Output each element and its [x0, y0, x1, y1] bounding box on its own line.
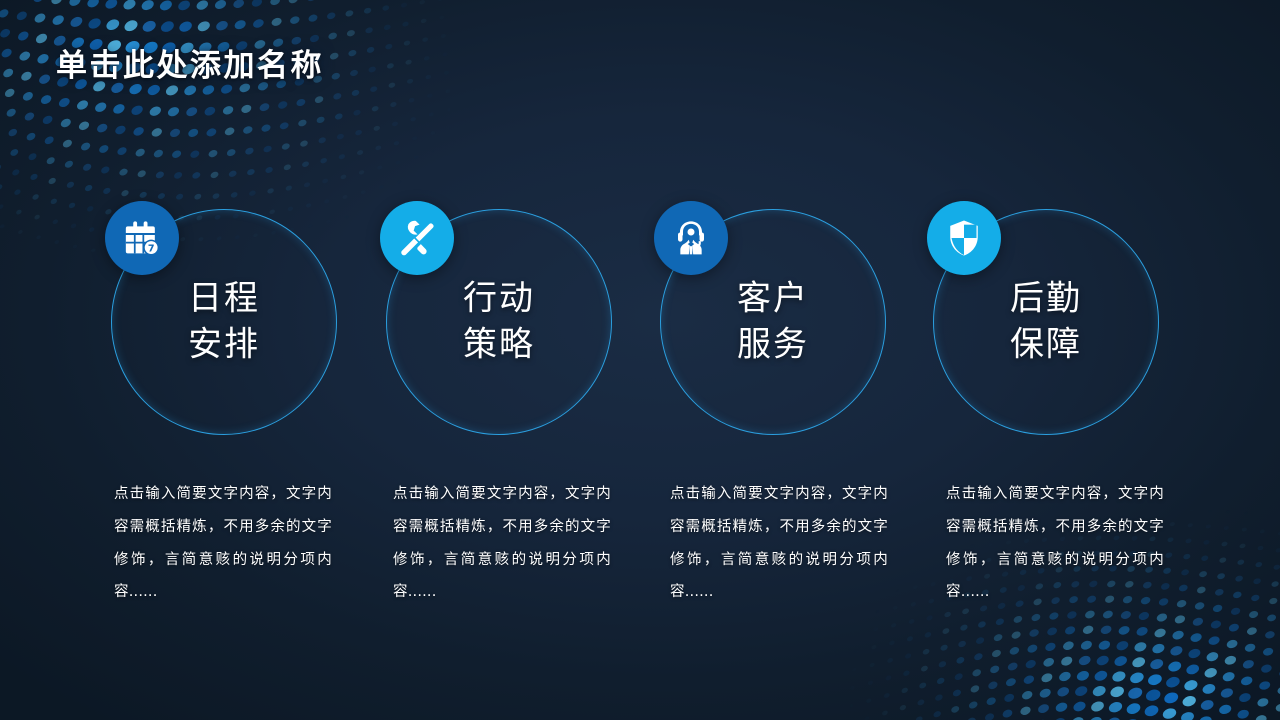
circle-label-line1: 客户: [660, 276, 886, 322]
circle-label-line1: 后勤: [933, 276, 1159, 322]
circle-group: 7 日程 安排 行动: [0, 0, 1280, 720]
presentation-slide: 单击此处添加名称: [0, 0, 1280, 720]
circle-label-line2: 服务: [660, 322, 886, 368]
calendar-badge-number: 7: [148, 243, 155, 254]
circle-label-line2: 策略: [386, 322, 612, 368]
page-title: 单击此处添加名称: [56, 48, 324, 85]
circle-label-schedule: 日程 安排: [111, 276, 337, 367]
circle-label-line1: 日程: [111, 276, 337, 322]
circle-item-schedule[interactable]: 7 日程 安排: [111, 209, 337, 435]
description-customer-service: 点击输入简要文字内容，文字内容需概括精炼，不用多余的文字修饰，言简意赅的说明分项…: [670, 478, 888, 609]
tools-icon[interactable]: [380, 201, 454, 275]
headset-agent-icon[interactable]: [654, 201, 728, 275]
description-logistics: 点击输入简要文字内容，文字内容需概括精炼，不用多余的文字修饰，言简意赅的说明分项…: [946, 478, 1164, 609]
description-strategy: 点击输入简要文字内容，文字内容需概括精炼，不用多余的文字修饰，言简意赅的说明分项…: [393, 478, 611, 609]
circle-label-logistics: 后勤 保障: [933, 276, 1159, 367]
description-schedule: 点击输入简要文字内容，文字内容需概括精炼，不用多余的文字修饰，言简意赅的说明分项…: [114, 478, 332, 609]
circle-label-line1: 行动: [386, 276, 612, 322]
circle-label-customer-service: 客户 服务: [660, 276, 886, 367]
circle-item-logistics[interactable]: 后勤 保障: [933, 209, 1159, 435]
circle-item-strategy[interactable]: 行动 策略: [386, 209, 612, 435]
calendar-icon[interactable]: 7: [105, 201, 179, 275]
circle-label-strategy: 行动 策略: [386, 276, 612, 367]
slide-title-block: 单击此处添加名称: [56, 48, 324, 85]
circle-label-line2: 安排: [111, 322, 337, 368]
circle-label-line2: 保障: [933, 322, 1159, 368]
circle-item-customer-service[interactable]: 客户 服务: [660, 209, 886, 435]
shield-icon[interactable]: [927, 201, 1001, 275]
